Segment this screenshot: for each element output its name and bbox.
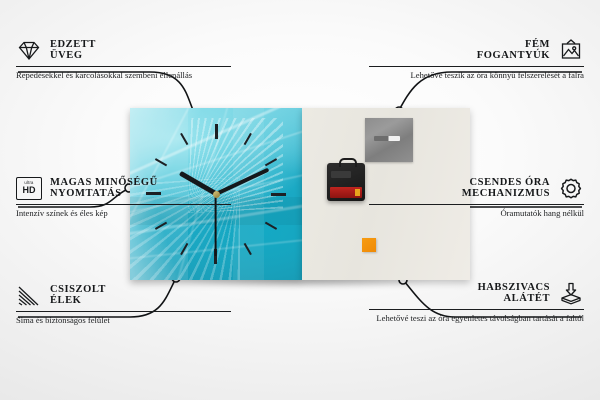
callout-title-line2: MECHANIZMUS	[462, 188, 550, 199]
callout-titles: CSENDES ÓRA MECHANIZMUS	[462, 177, 550, 199]
callout-header: ultra HD MAGAS MINŐSÉGŰ NYOMTATÁS	[16, 176, 231, 200]
callout-title-line1: EDZETT	[50, 39, 96, 50]
battery-compartment	[330, 187, 362, 198]
callout-title-line1: CSENDES ÓRA	[462, 177, 550, 188]
callout-header: HABSZIVACS ALÁTÉT	[369, 281, 584, 305]
foam-press-icon	[558, 281, 584, 305]
callout-title-line1: HABSZIVACS	[478, 282, 550, 293]
callout-description: Lehetővé teszik az óra könnyű felszerelé…	[369, 70, 584, 81]
callout-tempered-glass: EDZETT ÜVEG Repedésekkel és karcolásokka…	[16, 38, 231, 81]
callout-polished-edges: CSISZOLT ÉLEK Sima és biztonságos felüle…	[16, 283, 231, 326]
callout-title-line2: NYOMTATÁS	[50, 188, 158, 199]
callout-divider	[369, 66, 584, 67]
callout-titles: FÉM FOGANTYÚK	[477, 39, 550, 61]
mechanism-slot	[331, 171, 351, 178]
foam-pad	[362, 238, 376, 252]
callout-header: CSENDES ÓRA MECHANIZMUS	[369, 176, 584, 200]
infographic-stage: EDZETT ÜVEG Repedésekkel és karcolásokka…	[0, 0, 600, 400]
callout-header: FÉM FOGANTYÚK	[369, 38, 584, 62]
callout-description: Repedésekkel és karcolásokkal szembeni e…	[16, 70, 231, 81]
ultra-hd-icon: ultra HD	[16, 176, 42, 200]
callout-title-line2: ALÁTÉT	[478, 293, 550, 304]
callout-silent-mechanism: CSENDES ÓRA MECHANIZMUS Óramutatók hang …	[369, 176, 584, 219]
mechanism-lug	[339, 158, 357, 167]
diamond-icon	[16, 38, 42, 62]
callout-title-line2: ÉLEK	[50, 295, 106, 306]
callout-metal-handles: FÉM FOGANTYÚK Lehetővé teszik az óra kön…	[369, 38, 584, 81]
callout-titles: HABSZIVACS ALÁTÉT	[478, 282, 550, 304]
picture-hanger-icon	[558, 38, 584, 62]
callout-description: Intenzív színek és éles kép	[16, 208, 231, 219]
callout-description: Óramutatók hang nélkül	[369, 208, 584, 219]
callout-divider	[16, 204, 231, 205]
gear-icon	[558, 176, 584, 200]
callout-title-line2: ÜVEG	[50, 50, 96, 61]
ultra-hd-large-label: HD	[23, 186, 36, 195]
callout-titles: EDZETT ÜVEG	[50, 39, 96, 61]
callout-divider	[369, 204, 584, 205]
callout-hd-print: ultra HD MAGAS MINŐSÉGŰ NYOMTATÁS Intenz…	[16, 176, 231, 219]
callout-header: CSISZOLT ÉLEK	[16, 283, 231, 307]
callout-title-line1: FÉM	[477, 39, 550, 50]
metal-hanger-plate	[365, 118, 413, 162]
callout-description: Lehetővé teszi az óra egyenletes távolsá…	[369, 313, 584, 324]
callout-description: Sima és biztonságos felület	[16, 315, 231, 326]
beveled-edge-icon	[16, 283, 42, 307]
callout-divider	[369, 309, 584, 310]
callout-divider	[16, 66, 231, 67]
callout-header: EDZETT ÜVEG	[16, 38, 231, 62]
callout-foam-pad: HABSZIVACS ALÁTÉT Lehetővé teszi az óra …	[369, 281, 584, 324]
callout-titles: CSISZOLT ÉLEK	[50, 284, 106, 306]
callout-title-line1: CSISZOLT	[50, 284, 106, 295]
callout-titles: MAGAS MINŐSÉGŰ NYOMTATÁS	[50, 177, 158, 199]
callout-title-line2: FOGANTYÚK	[477, 50, 550, 61]
callout-divider	[16, 311, 231, 312]
callout-title-line1: MAGAS MINŐSÉGŰ	[50, 177, 158, 188]
clock-mechanism	[327, 163, 365, 201]
